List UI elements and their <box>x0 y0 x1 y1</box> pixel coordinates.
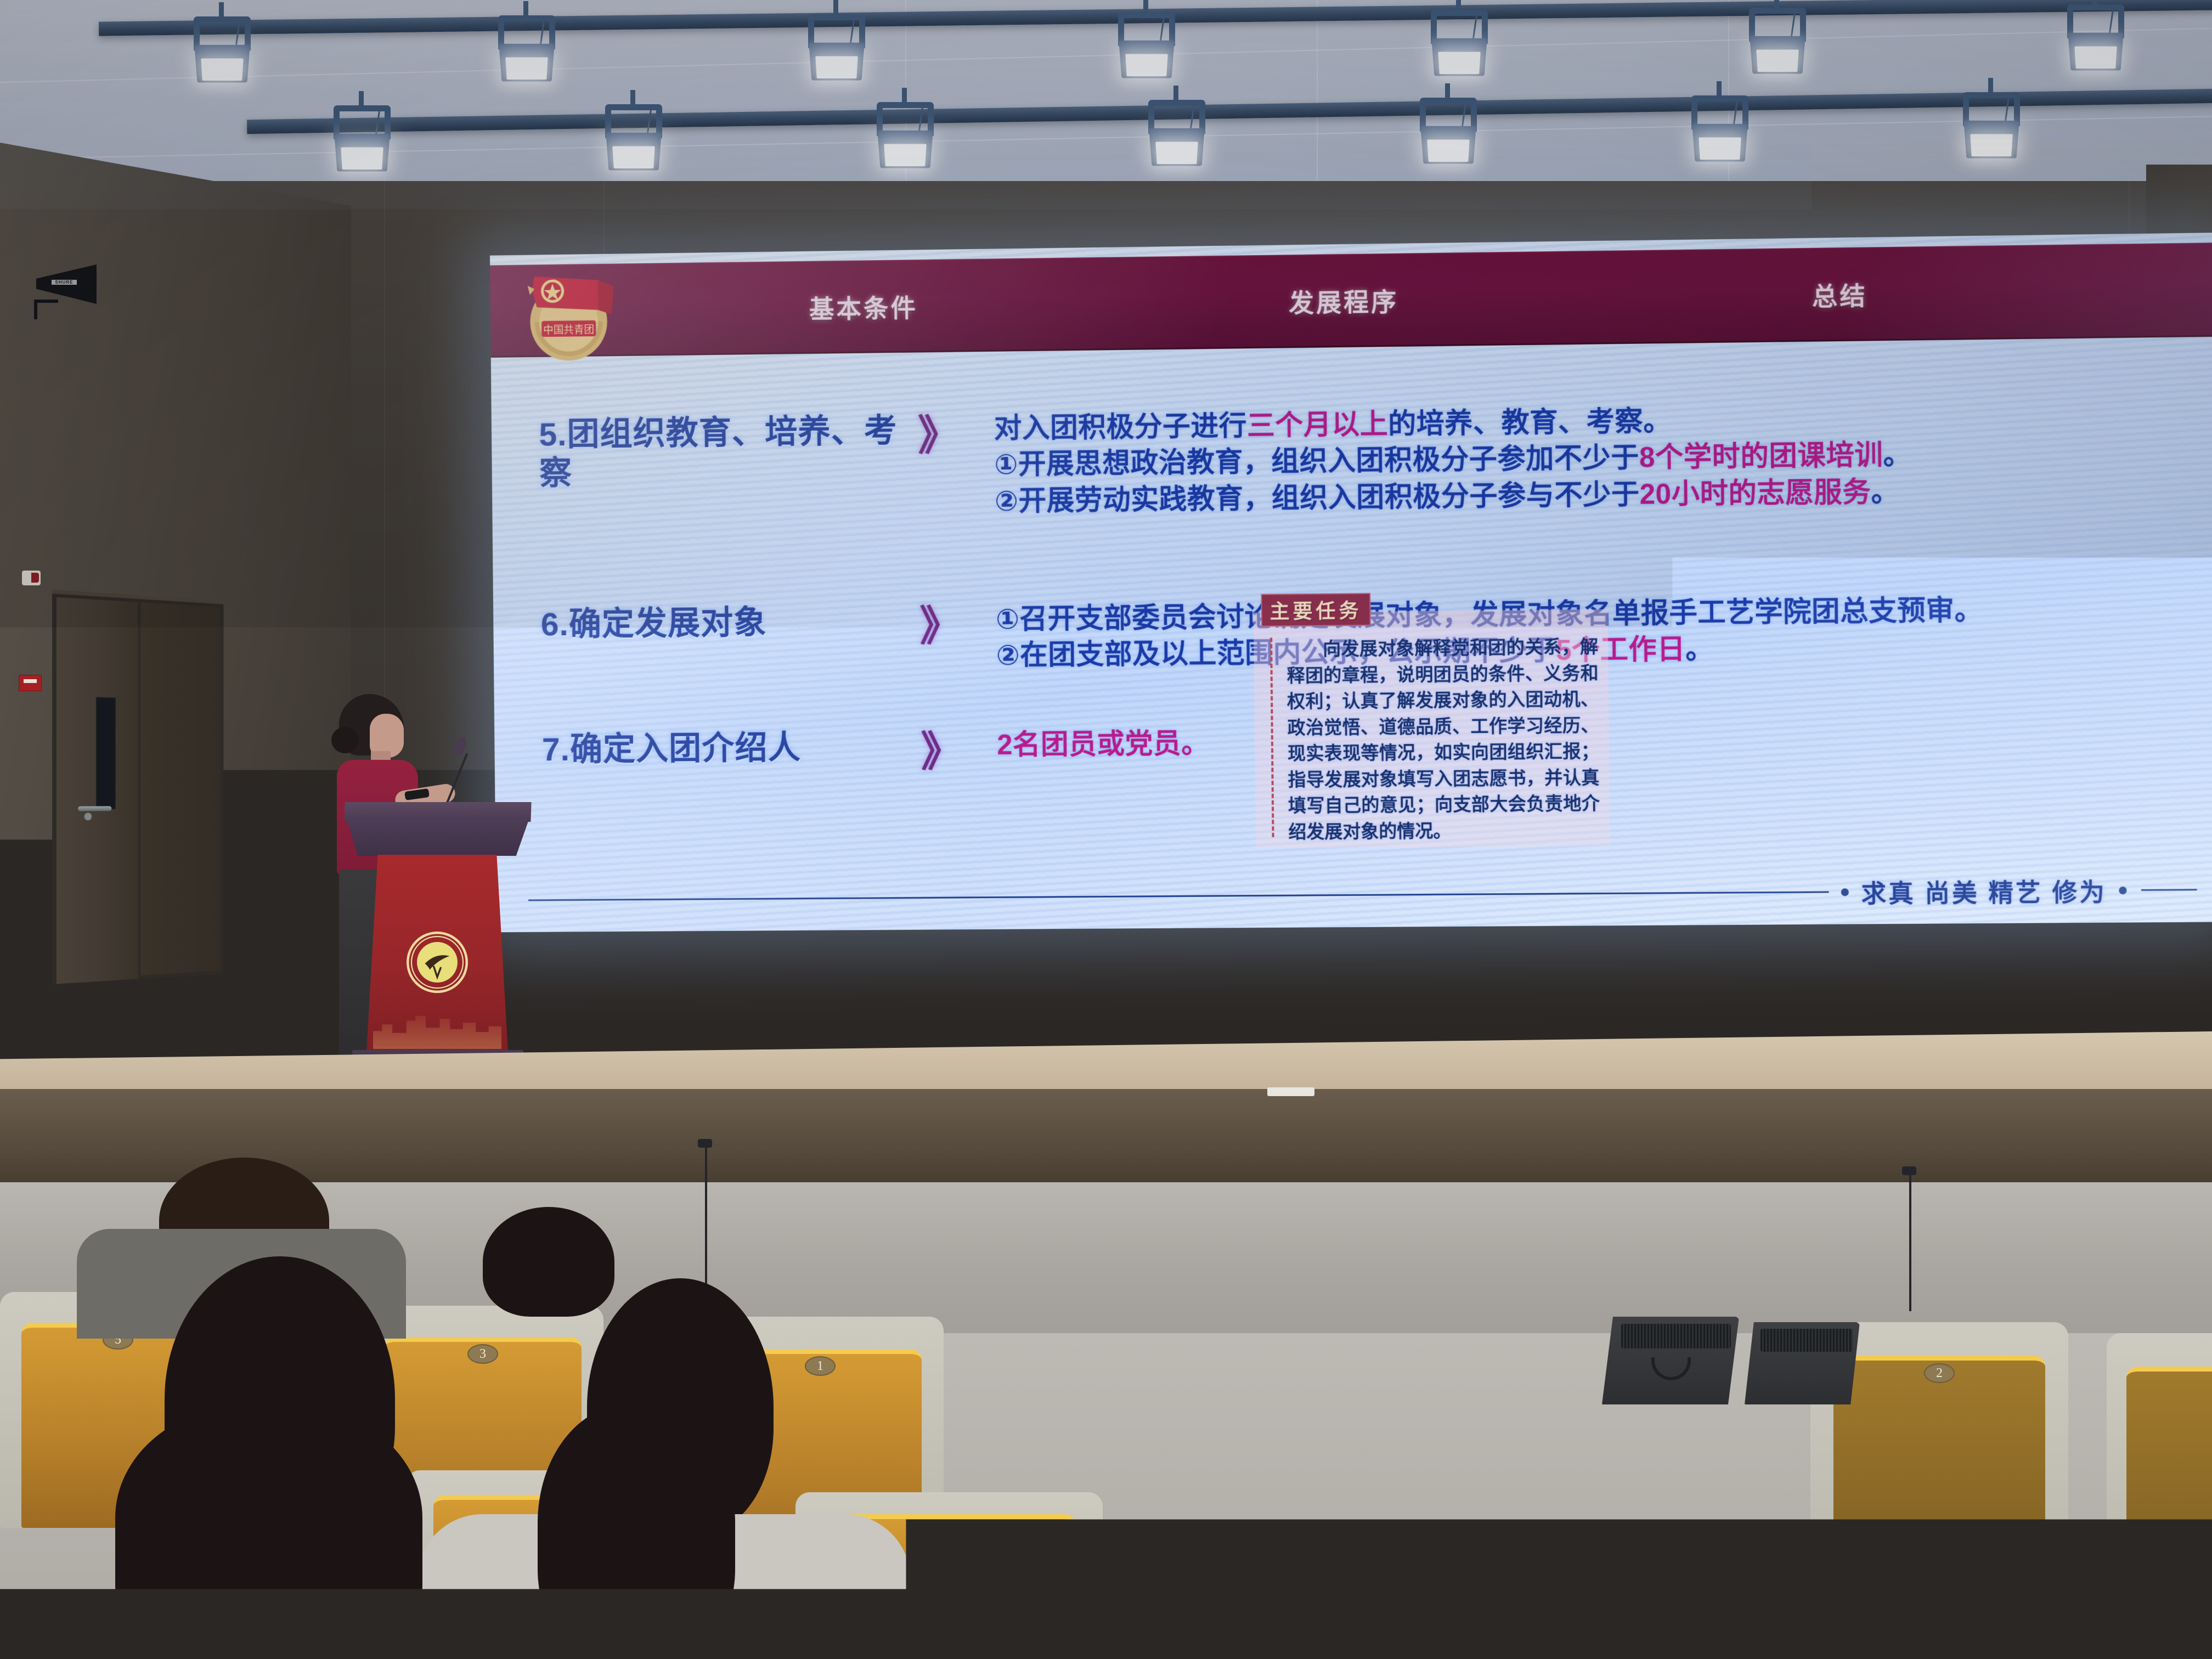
seat-number: 1 <box>805 1356 836 1376</box>
stage-light <box>1745 8 1810 79</box>
footer-rule-right <box>2141 889 2197 891</box>
stage-light <box>2063 4 2129 76</box>
seat-number: 2 <box>1924 1363 1955 1383</box>
podium-skyline-graphic <box>373 1002 501 1049</box>
row-5-text: 对入团积极分子进行三个月以上的培养、教育、考察。 ①开展思想政治教育，组织入团积… <box>994 397 2189 519</box>
footer-dot-right <box>2119 887 2126 894</box>
stage-light <box>1426 10 1492 81</box>
r5-l2-hl: 8个学时的团课培训 <box>1639 439 1883 473</box>
fire-alarm-button[interactable] <box>19 675 42 691</box>
slide-footer: 求真 尚美 精艺 修为 <box>528 872 2197 918</box>
shure-antenna-icon: SHURE <box>33 258 99 318</box>
stage-light <box>329 105 395 177</box>
emergency-light-icon <box>22 571 41 585</box>
stage-light <box>804 14 870 86</box>
tab-summary[interactable]: 总结 <box>1591 273 2090 315</box>
seat-right-edge[interactable] <box>2107 1333 2212 1591</box>
floor-mic-stand <box>705 1147 707 1284</box>
school-motto: 求真 尚美 精艺 修为 <box>1861 872 2107 910</box>
row-7-label: 7.确定入团介绍人 <box>542 728 921 770</box>
podium <box>345 802 531 1082</box>
seat-number: 3 <box>467 1344 498 1364</box>
floor-monitor-speaker <box>1745 1322 1860 1404</box>
lighting-truss-rear <box>247 89 2212 134</box>
footer-dot-left <box>1841 888 1849 896</box>
stage-edge-band <box>0 1147 2212 1185</box>
chevron-right-icon: 》 <box>919 601 996 641</box>
r5-l3-pre: ②开展劳动实践教育，组织入团积极分子参与不少于 <box>995 478 1640 516</box>
audience-head <box>483 1207 614 1317</box>
slide-body: 5.团组织教育、培养、考察 》 对入团积极分子进行三个月以上的培养、教育、考察。… <box>491 343 2212 932</box>
audience-head <box>538 1404 735 1659</box>
stage-light <box>1959 92 2024 163</box>
stage-light <box>189 16 255 88</box>
audience-head <box>115 1404 422 1659</box>
slide-header-band: 基本条件 发展程序 总结 中国共青团 <box>490 242 2212 358</box>
auditorium-scene: SHURE 基本条件 发展程序 总结 <box>0 0 2212 1659</box>
r5-l2-pre: ①开展思想政治教育，组织入团积极分子参加不少于 <box>994 442 1639 480</box>
stage-light <box>1144 100 1210 171</box>
door-lock-icon[interactable] <box>84 812 92 820</box>
chevron-right-icon: 》 <box>918 410 994 450</box>
seat-front-right[interactable] <box>1668 1531 2008 1659</box>
hair-bun <box>331 727 359 753</box>
r5-l1-post: 的培养、教育、考察。 <box>1388 405 1672 439</box>
tab-basic-conditions[interactable]: 基本条件 <box>630 285 1098 327</box>
stage-light <box>601 104 667 176</box>
r5-l2-post: 。 <box>1883 439 1912 471</box>
floor-mic-stand <box>1909 1174 1911 1311</box>
r5-l3-post: 。 <box>1871 476 1900 507</box>
communist-youth-league-emblem-icon: 中国共青团 <box>511 255 625 370</box>
stage-light <box>872 102 938 173</box>
stage-light <box>1114 12 1180 83</box>
exit-door[interactable] <box>52 590 224 985</box>
r5-l1-hl: 三个月以上 <box>1247 408 1389 441</box>
door-window <box>96 697 116 809</box>
slide-row-5: 5.团组织教育、培养、考察 》 对入团积极分子进行三个月以上的培养、教育、考察。… <box>539 397 2189 524</box>
main-task-callout: 主要任务 向发展对象解释党和团的关系，解释团的章程，说明团员的条件、义务和权利；… <box>1254 610 1610 849</box>
stage-light <box>1415 98 1481 169</box>
footer-rule-left <box>528 891 1829 901</box>
door-handle[interactable] <box>78 806 111 811</box>
stage-light <box>1687 95 1753 167</box>
main-task-tag: 主要任务 <box>1261 593 1370 627</box>
floor-monitor-speaker <box>1602 1317 1739 1404</box>
school-crest-icon <box>407 932 468 993</box>
r7-l1-hl: 2名团员或党员。 <box>997 728 1210 761</box>
r5-l3-hl: 20小时的志愿服务 <box>1639 476 1871 510</box>
r6-l2-post: 。 <box>1685 633 1714 665</box>
floor-mic-head-icon <box>698 1139 712 1148</box>
dashed-divider <box>1270 637 1274 837</box>
tab-development-procedure[interactable]: 发展程序 <box>1097 279 1591 321</box>
projection-screen: 基本条件 发展程序 总结 中国共青团 <box>490 233 2212 932</box>
svg-text:中国共青团: 中国共青团 <box>543 324 594 336</box>
shure-logo: SHURE <box>52 280 77 285</box>
stage-object <box>1267 1087 1314 1096</box>
stage-light <box>494 15 560 87</box>
chevron-right-icon: 》 <box>921 727 997 767</box>
floor-mic-head-icon <box>1902 1166 1916 1175</box>
row-6-label: 6.确定发展对象 <box>540 602 919 644</box>
row-5-label: 5.团组织教育、培养、考察 <box>539 411 918 493</box>
main-task-body: 向发展对象解释党和团的关系，解释团的章程，说明团员的条件、义务和权利；认真了解发… <box>1286 635 1600 846</box>
r5-l1-pre: 对入团积极分子进行 <box>994 410 1248 444</box>
